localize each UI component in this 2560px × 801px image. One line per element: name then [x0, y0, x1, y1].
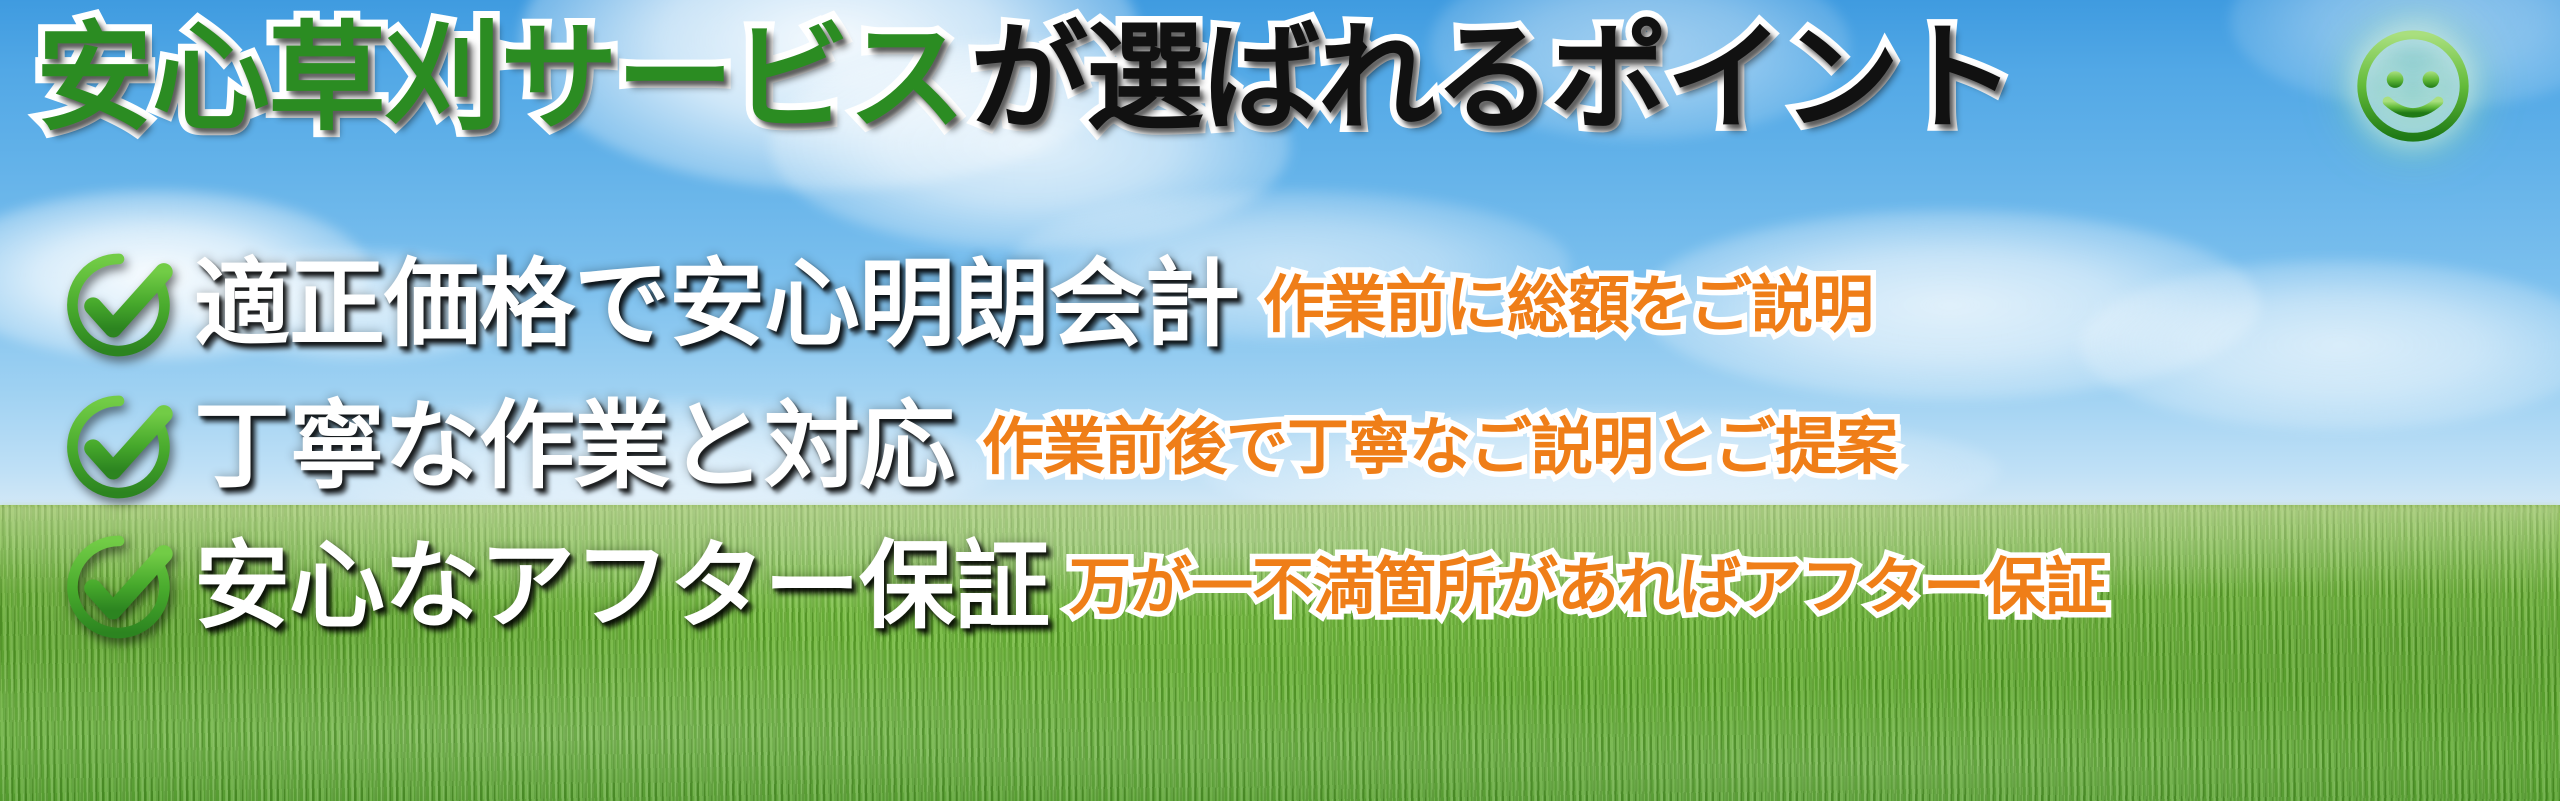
point-row-1: 適正価格で安心明朗会計 作業前に総額をご説明: [60, 246, 1873, 364]
grass-cutting-service-banner: 安心草刈サービス が選ばれるポイント: [0, 0, 2560, 801]
point-row-2: 丁寧な作業と対応 作業前後で丁寧なご説明とご提案: [60, 388, 1897, 506]
point-3-sub-text: 万が一不満箇所があればアフター保証: [1069, 551, 2106, 622]
point-1-sub-text: 作業前に総額をご説明: [1263, 269, 1873, 340]
point-2-main-text: 丁寧な作業と対応: [194, 393, 954, 501]
check-circle-icon: [60, 528, 178, 646]
point-3-main-text: 安心なアフター保証: [194, 533, 1049, 641]
headline-tagline-text: が選ばれるポイント: [970, 12, 2014, 144]
banner-headline: 安心草刈サービス が選ばれるポイント: [36, 12, 2014, 144]
point-2-sub-text: 作業前後で丁寧なご説明とご提案: [982, 411, 1897, 482]
check-circle-icon: [60, 246, 178, 364]
smiley-face-icon: [2338, 22, 2488, 150]
point-row-3: 安心なアフター保証 万が一不満箇所があればアフター保証: [60, 528, 2106, 646]
check-circle-icon: [60, 388, 178, 506]
point-1-main-text: 適正価格で安心明朗会計: [194, 251, 1239, 359]
headline-brand-text: 安心草刈サービス: [36, 12, 964, 144]
